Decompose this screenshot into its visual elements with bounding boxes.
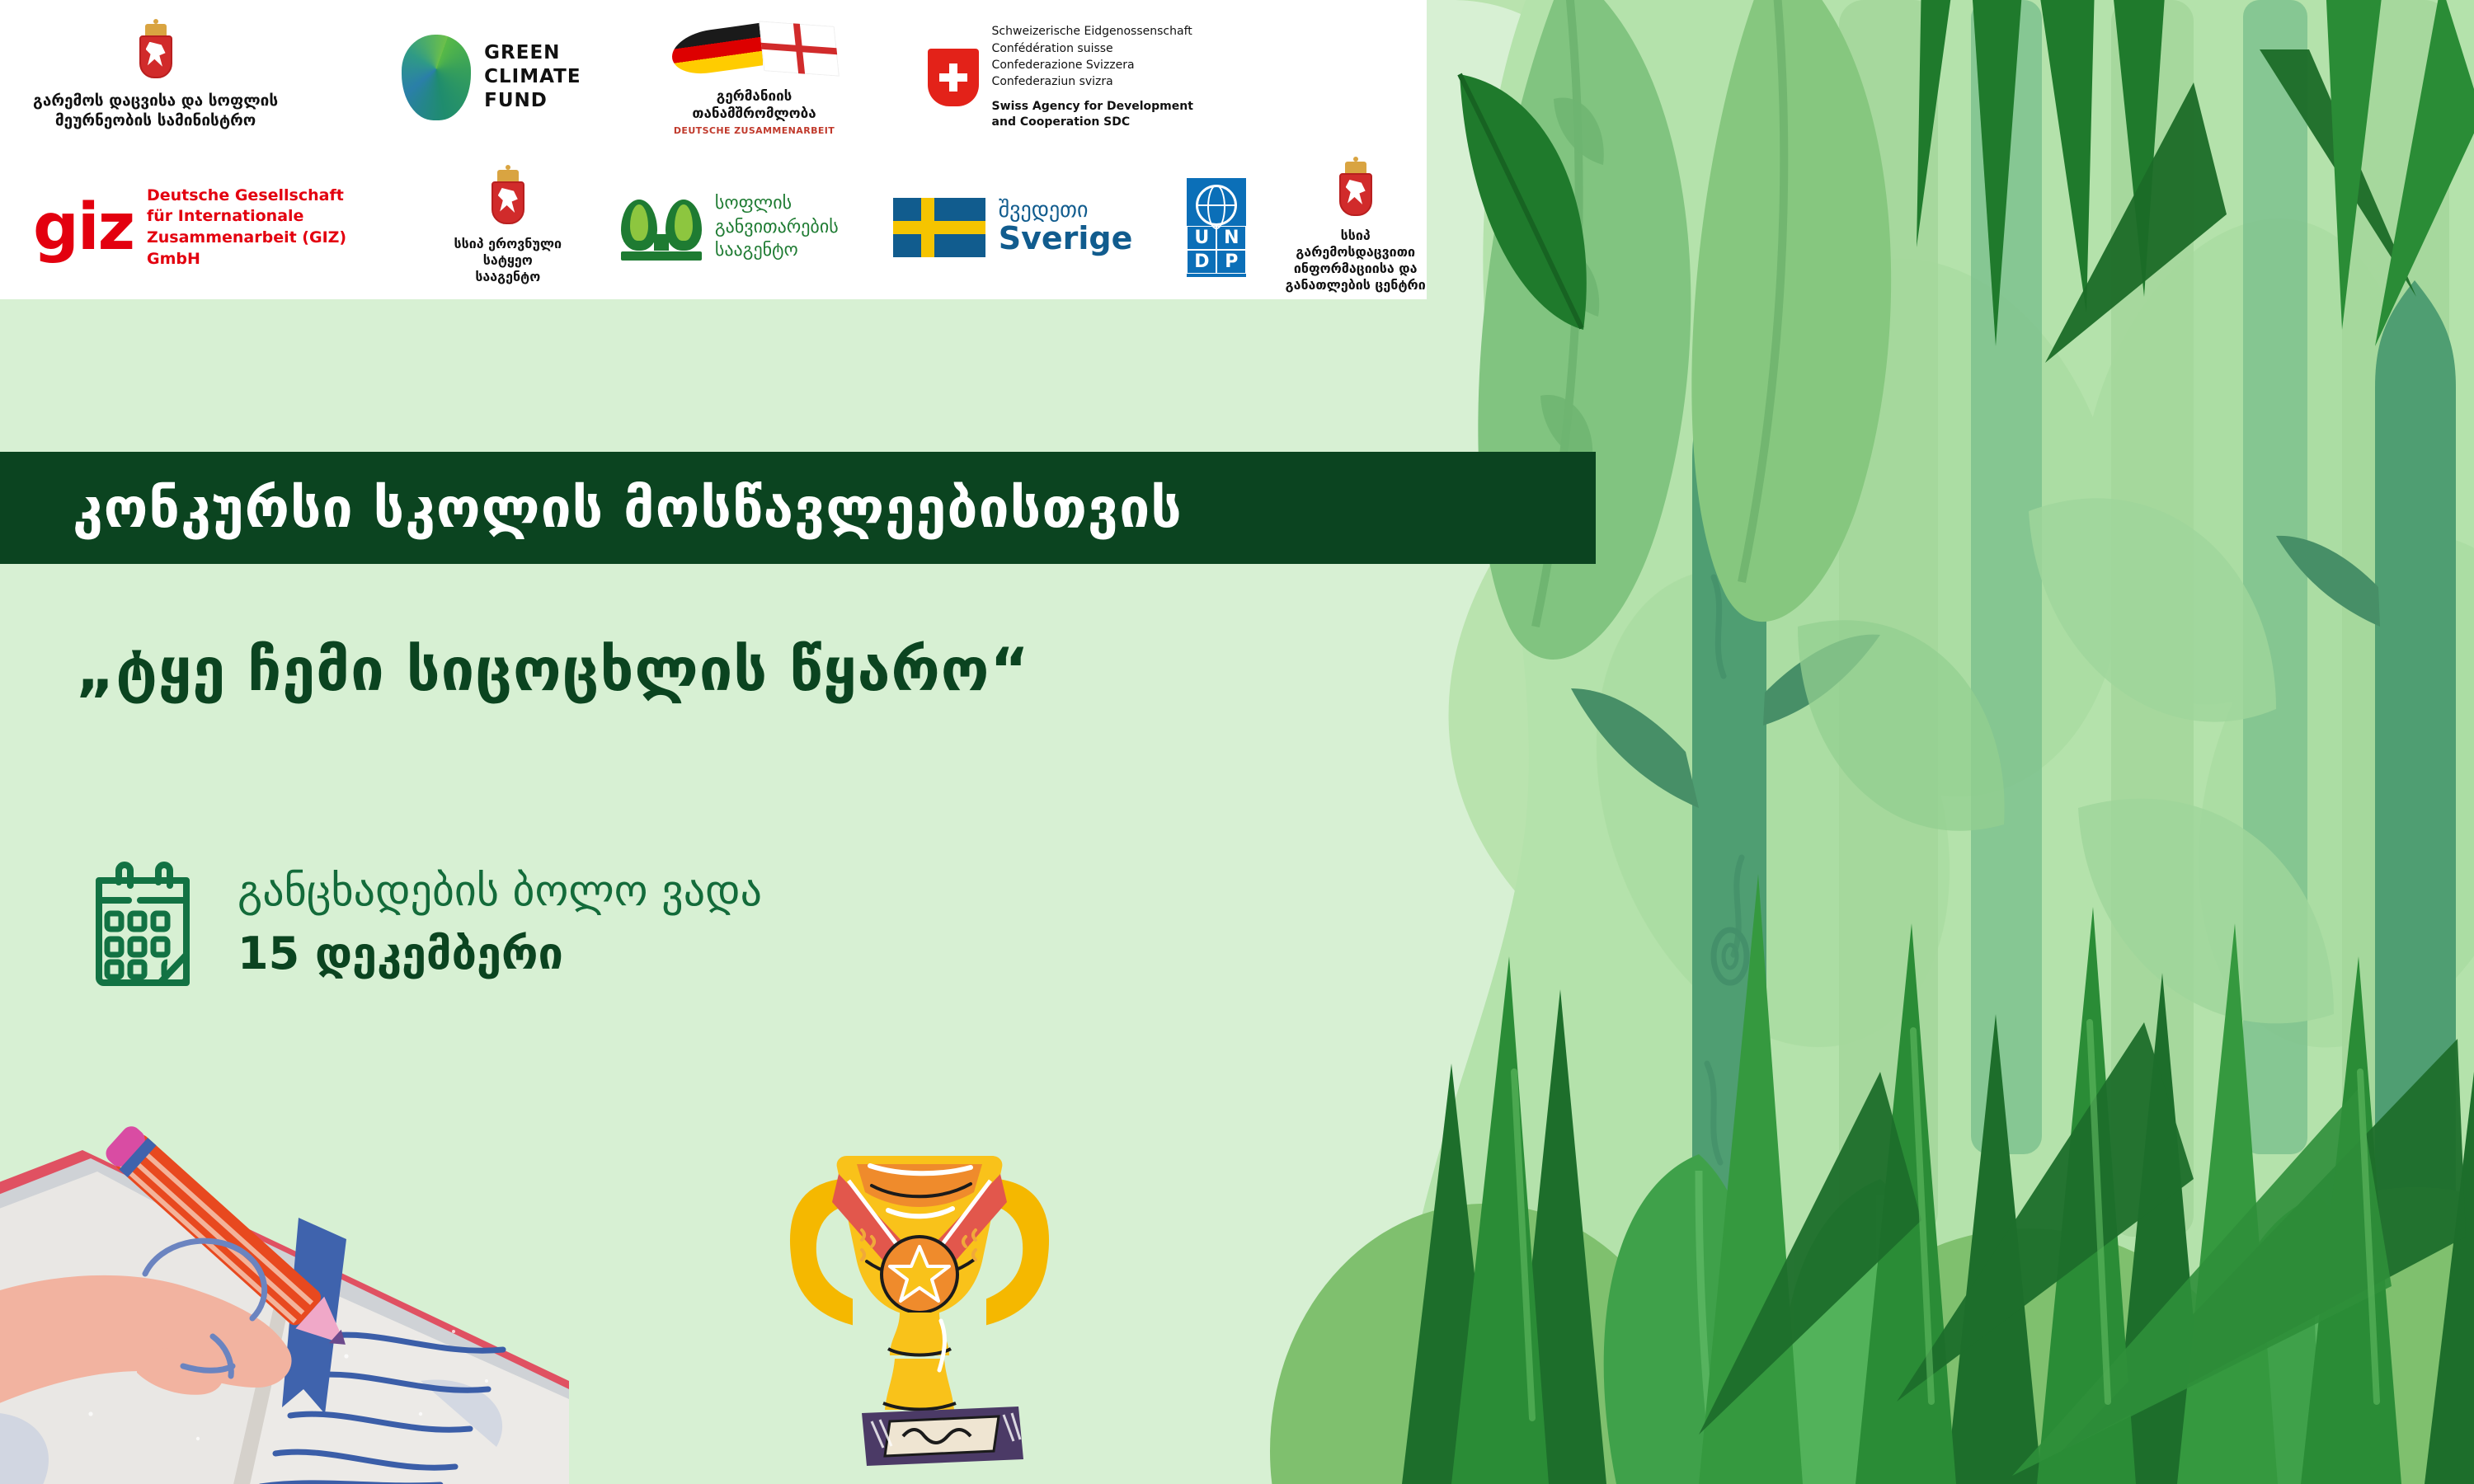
gcf-gem-icon [402,35,471,120]
logo-label-german-ka: გერმანიის თანამშრომლობა [692,88,816,124]
sweden-flag-icon [893,198,985,257]
title-banner: კონკურსი სკოლის მოსწავლეებისთვის [0,452,1596,564]
undp-letter-p: P [1216,250,1246,274]
logo-label-sweden-ka: შვედეთი [999,199,1133,223]
logo-label-forestry: სსიპ ეროვნული სატყეო სააგენტო [453,236,563,285]
undp-letter-n: N [1216,226,1246,250]
giz-wordmark: giz [33,202,134,253]
logo-giz: giz Deutsche Gesellschaft für Internatio… [33,185,379,270]
logo-label-rural: სოფლის განვითარების სააგენტო [715,192,839,263]
logo-ministry-of-environment: გარემოს დაცვისა და სოფლის მეურნეობის სამ… [33,24,278,131]
logo-label-gcf: GREEN CLIMATE FUND [484,41,581,112]
logo-swiss-sdc: Schweizerische Eidgenossenschaft Confédé… [928,23,1193,130]
georgia-coat-of-arms-icon [1333,162,1379,221]
undp-globe-icon: U N D P [1187,178,1246,277]
gold-trophy-illustration [746,1138,1093,1484]
logo-environmental-education-centre: სსიპ გარემოსდაცვითი ინფორმაციისა და განა… [1284,162,1427,294]
calendar-icon [89,857,196,988]
banner-title: კონკურსი სკოლის მოსწავლეებისთვის [0,477,1183,540]
poster-subtitle: „ტყე ჩემი სიცოცხლის წყარო“ [76,635,1030,704]
deadline-label: განცხადების ბოლო ვადა [238,866,762,916]
logo-green-climate-fund: GREEN CLIMATE FUND [402,35,581,120]
logo-german-cooperation: გერმანიის თანამშრომლობა DEUTSCHE ZUSAMME… [672,17,837,137]
logo-row-bottom: giz Deutsche Gesellschaft für Internatio… [33,162,1427,294]
swiss-shield-icon [928,49,979,106]
logo-label-sweden-en: Sverige [999,222,1133,256]
hand-writing-in-notebook-illustration [0,1026,569,1484]
logo-header: გარემოს დაცვისა და სოფლის მეურნეობის სამ… [0,0,1427,299]
logo-label-ministry: გარემოს დაცვისა და სოფლის მეურნეობის სამ… [33,92,278,131]
deadline-block: განცხადების ბოლო ვადა 15 დეკემბერი [89,857,762,988]
logo-label-swiss-agency: Swiss Agency for Development and Coopera… [992,99,1193,131]
trees-house-icon [621,195,702,261]
german-georgian-flag-ribbon-icon [672,17,837,88]
georgia-coat-of-arms-icon [133,24,179,83]
logo-row-top: გარემოს დაცვისა და სოფლის მეურნეობის სამ… [33,5,1193,149]
poster-root: გარემოს დაცვისა და სოფლის მეურნეობის სამ… [0,0,2474,1484]
undp-letter-d: D [1187,250,1216,274]
logo-sweden: შვედეთი Sverige [893,198,1133,257]
undp-letter-u: U [1187,226,1216,250]
logo-label-german-de: DEUTSCHE ZUSAMMENARBEIT [674,125,835,137]
logo-undp: U N D P [1187,178,1246,277]
logo-label-eiec: სსიპ გარემოსდაცვითი ინფორმაციისა და განა… [1284,228,1427,294]
logo-rural-development-agency: სოფლის განვითარების სააგენტო [621,192,839,263]
logo-label-giz: Deutsche Gesellschaft für Internationale… [147,185,379,270]
deadline-date: 15 დეკემბერი [238,927,762,979]
logo-national-forestry-agency: სსიპ ეროვნული სატყეო სააგენტო [453,170,563,285]
georgia-coat-of-arms-icon [485,170,531,229]
logo-label-swiss-multilang: Schweizerische Eidgenossenschaft Confédé… [992,23,1193,90]
